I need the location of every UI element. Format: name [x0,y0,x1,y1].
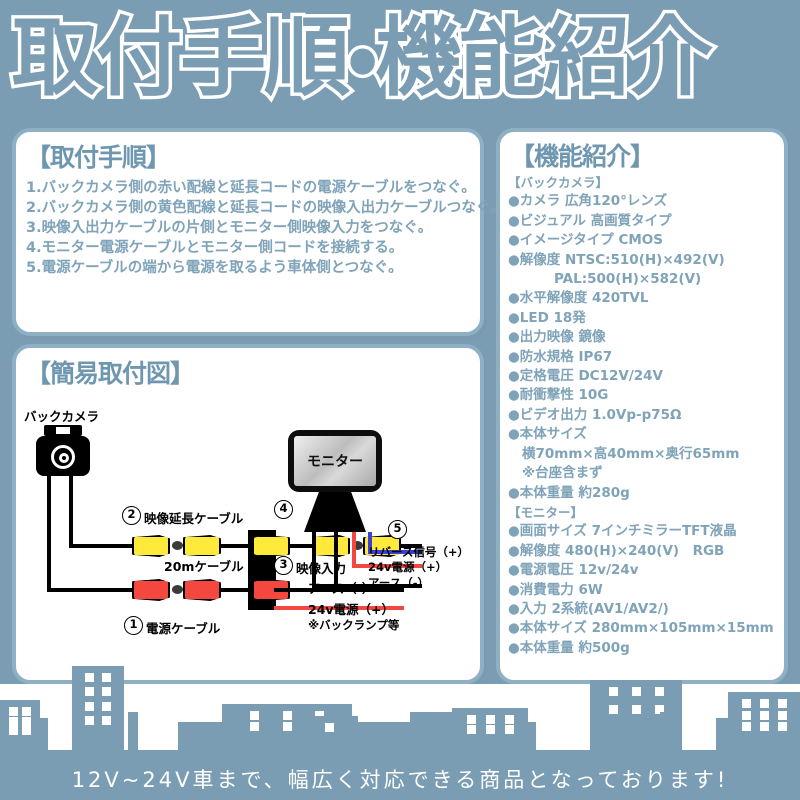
skyline-building [520,722,536,752]
camera-wire-power [47,476,51,592]
spec-item: ●カメラ 広角120°レンズ [508,192,784,211]
infographic-page: 取付手順・機能紹介 取付手順・機能紹介 【取付手順】 1.バックカメラ側の赤い配… [0,0,800,800]
spec-item: ●ビデオ出力 1.0Vp-p75Ω [508,406,784,425]
spec-item: ●本体サイズ 280mm×105mm×15mm [508,619,784,638]
connector-video-b [183,535,221,557]
camera-wire-video [69,476,73,548]
power-cable-label: 電源ケーブル [146,618,220,637]
building-window [760,699,769,708]
spec-item: ●定格電圧 DC12V/24V [508,367,784,386]
spec-item: ●水平解像度 420TVL [508,289,784,308]
list-item: 1.バックカメラ側の赤い配線と延長コードの電源ケーブルをつなぐ。 [26,178,480,198]
skyline-building [128,712,138,752]
footer-text: 12V~24V車まで、幅広く対応できる商品となっております! [0,764,800,794]
building-window [505,715,514,724]
wire-monitor-ground [312,532,316,588]
spec-item: ●画面サイズ 7インチミラーTFT液晶 [508,522,784,541]
building-window [9,707,18,716]
camera-label: バックカメラ [24,406,99,425]
marker-1: 1 [124,616,143,635]
building-window [778,711,787,720]
marker-5: 5 [388,520,407,539]
building-window [22,707,31,716]
building-window [250,722,259,731]
building-window [85,716,94,725]
back-camera-icon [36,436,90,476]
spec-item: ●本体サイズ [508,425,784,444]
building-window [505,725,514,734]
list-item: 5.電源ケーブルの端から電源を取るよう車体側とつなぐ。 [26,258,480,278]
skyline-building [410,712,456,752]
page-title-fill: 取付手順・機能紹介 [12,8,711,108]
building-window [778,722,787,731]
specifications-panel: 【機能紹介】 【バックカメラ】●カメラ 広角120°レンズ●ビジュアル 高画質タ… [496,128,788,684]
monitor-screen-label: モニター [294,436,376,486]
building-window [102,673,111,682]
cable-20m-label: 20mケーブル [164,556,244,575]
spec-item: ●本体重量 約280g [508,484,784,503]
specs-list: 【バックカメラ】●カメラ 広角120°レンズ●ビジュアル 高画質タイプ●イメージ… [500,173,784,658]
skyline-building [72,666,124,752]
specs-heading: 【機能紹介】 [500,132,784,173]
building-window [632,687,641,696]
spec-item: ●解像度 480(H)×240(V) RGB [508,542,784,561]
list-item: 2.バックカメラ側の黄色配線と延長コードの映像入出力ケーブルつなぐ。 [26,198,480,218]
spec-item: 横70mm×高40mm×奥行65mm [508,445,784,464]
building-window [467,725,476,734]
building-window [467,715,476,724]
building-window [486,715,495,724]
building-window [609,705,618,714]
building-window [283,711,292,720]
skyline-building [178,722,224,752]
building-window [655,687,664,696]
skyline-building [352,722,410,752]
marker-4: 4 [274,500,293,519]
building-window [22,726,31,735]
skyline-building [40,718,48,752]
wiring-diagram: バックカメラ 2 映像延長ケーブル 2 [16,378,480,684]
spec-item: ●本体重量 約500g [508,639,784,658]
list-item: 4.モニター電源ケーブルとモニター側コードを接続する。 [26,238,480,258]
power-24v-right-label: 24v電源（+） [368,559,447,575]
building-window [9,717,18,726]
spec-item: ●ビジュアル 高画質タイプ [508,212,784,231]
list-item: 3.映像入出力ケーブルの片側とモニター側映像入力をつなぐ。 [26,218,480,238]
power-24v-left-label: 24v電源（+） [308,599,394,618]
monitor-stand [304,492,366,532]
steps-heading: 【取付手順】 [16,132,480,176]
building-window [9,726,18,735]
spec-group-heading: 【バックカメラ】 [508,173,784,192]
skyline-building [300,716,358,752]
wire-monitor-ground-2 [334,532,338,588]
reverse-signal-label: リバース信号（+） [368,544,469,560]
wire-monitor-24v [352,532,356,568]
installation-steps-panel: 【取付手順】 1.バックカメラ側の赤い配線と延長コードの電源ケーブルをつなぐ。 … [12,128,484,336]
building-window [760,711,769,720]
marker-3: 3 [274,556,293,575]
building-window [778,699,787,708]
building-window [22,717,31,726]
ground-right-label: アース（-） [368,575,429,591]
building-window [102,702,111,711]
spec-item: PAL:500(H)×582(V) [508,270,784,289]
spec-item: ●解像度 NTSC:510(H)×492(V) [508,251,784,270]
spec-item: ●防水規格 IP67 [508,348,784,367]
backlamp-note-label: ※バックランプ等 [308,617,399,633]
spec-item: ●電源電圧 12v/24v [508,561,784,580]
spec-item: ●入力 2系統(AV1/AV2/) [508,600,784,619]
skyline-building [0,700,40,752]
marker-2: 2 [122,506,141,525]
connector-power-a [132,579,170,601]
building-window [609,687,618,696]
building-window [325,723,334,732]
building-window [742,722,751,731]
building-window [283,722,292,731]
building-window [632,705,641,714]
steps-list: 1.バックカメラ側の赤い配線と延長コードの電源ケーブルをつなぐ。 2.バックカメ… [16,176,480,278]
wiring-diagram-panel: 【簡易取付図】 バックカメラ 2 映像延長ケーブル [12,344,484,684]
spec-item: ●出力映像 鏡像 [508,328,784,347]
skyline-building [660,712,670,752]
skyline-building [792,712,800,752]
video-ext-cable-label: 映像延長ケーブル [144,508,243,527]
building-window [742,711,751,720]
building-window [102,716,111,725]
building-window [102,687,111,696]
camera-wire-video-h [69,544,139,548]
building-window [250,711,259,720]
title-bar: 取付手順・機能紹介 取付手順・機能紹介 [0,0,800,118]
building-window [760,722,769,731]
spec-item: ※台座含まず [508,464,784,483]
spec-item: ●耐衝撃性 10G [508,386,784,405]
connector-power-b [183,579,221,601]
building-window [742,699,751,708]
video-input-label: 映像入力 [296,558,346,577]
spec-group-heading: 【モニター】 [508,503,784,522]
spec-item: ●消費電力 6W [508,581,784,600]
spec-item: ●イメージタイプ CMOS [508,231,784,250]
connector-video-d [312,535,350,557]
building-window [85,687,94,696]
building-window [85,702,94,711]
building-window [486,725,495,734]
connector-video-a [132,535,170,557]
monitor-icon: モニター [288,430,382,492]
connector-dot [172,585,183,594]
camera-wire-power-h [47,588,139,592]
building-window [85,673,94,682]
connector-video-c [252,535,290,557]
spec-item: ●LED 18発 [508,309,784,328]
connector-dot [172,541,183,550]
